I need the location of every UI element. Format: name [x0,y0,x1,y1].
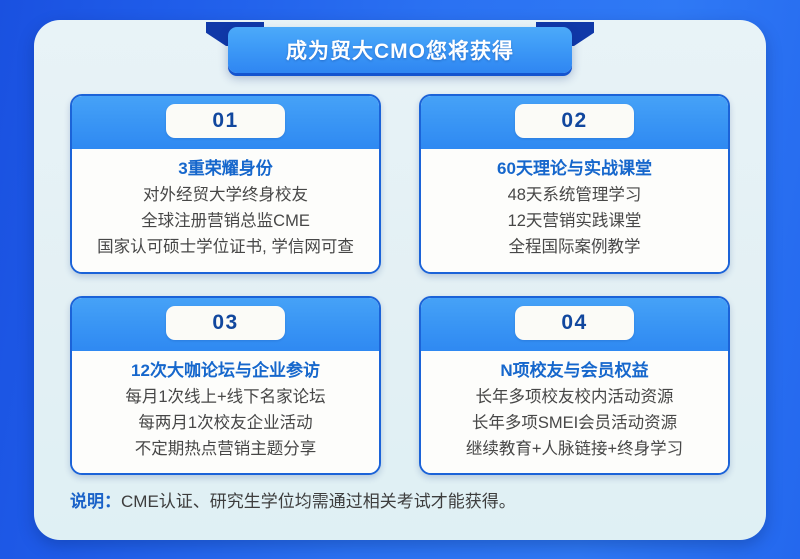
card-line: 每月1次线上+线下名家论坛 [78,384,373,410]
card-line: 长年多项校友校内活动资源 [427,384,722,410]
card-body: 12次大咖论坛与企业参访 每月1次线上+线下名家论坛 每两月1次校友企业活动 不… [72,351,379,474]
card-line: 全程国际案例教学 [427,234,722,260]
footnote-text: CME认证、研究生学位均需通过相关考试才能获得。 [121,492,516,511]
benefit-card: 01 3重荣耀身份 对外经贸大学终身校友 全球注册营销总监CME 国家认可硕士学… [70,94,381,274]
benefit-card: 02 60天理论与实战课堂 48天系统管理学习 12天营销实践课堂 全程国际案例… [419,94,730,274]
card-title: 12次大咖论坛与企业参访 [78,358,373,384]
title-ribbon: 成为贸大CMO您将获得 [0,22,800,74]
card-title: N项校友与会员权益 [427,358,722,384]
card-line: 长年多项SMEI会员活动资源 [427,410,722,436]
card-number: 04 [561,311,587,335]
card-body: N项校友与会员权益 长年多项校友校内活动资源 长年多项SMEI会员活动资源 继续… [421,351,728,474]
promo-graphic: 成为贸大CMO您将获得 01 3重荣耀身份 对外经贸大学终身校友 全球注册营销总… [0,0,800,559]
ribbon-body: 成为贸大CMO您将获得 [228,27,572,73]
card-number: 03 [212,311,238,335]
card-body: 60天理论与实战课堂 48天系统管理学习 12天营销实践课堂 全程国际案例教学 [421,149,728,272]
card-line: 国家认可硕士学位证书, 学信网可查 [78,234,373,260]
card-number-badge: 02 [515,104,634,138]
footnote-label: 说明： [70,492,121,511]
card-line: 全球注册营销总监CME [78,208,373,234]
card-number-badge: 04 [515,306,634,340]
card-line: 不定期热点营销主题分享 [78,436,373,462]
card-header: 04 [421,298,728,351]
card-line: 继续教育+人脉链接+终身学习 [427,436,722,462]
card-line: 48天系统管理学习 [427,182,722,208]
benefit-card: 03 12次大咖论坛与企业参访 每月1次线上+线下名家论坛 每两月1次校友企业活… [70,296,381,476]
benefit-card-grid: 01 3重荣耀身份 对外经贸大学终身校友 全球注册营销总监CME 国家认可硕士学… [70,94,730,475]
card-header: 03 [72,298,379,351]
card-line: 12天营销实践课堂 [427,208,722,234]
card-number-badge: 01 [166,104,285,138]
card-header: 01 [72,96,379,149]
footnote: 说明：CME认证、研究生学位均需通过相关考试才能获得。 [70,490,516,514]
card-line: 对外经贸大学终身校友 [78,182,373,208]
card-header: 02 [421,96,728,149]
card-line: 每两月1次校友企业活动 [78,410,373,436]
card-number-badge: 03 [166,306,285,340]
card-body: 3重荣耀身份 对外经贸大学终身校友 全球注册营销总监CME 国家认可硕士学位证书… [72,149,379,272]
benefit-card: 04 N项校友与会员权益 长年多项校友校内活动资源 长年多项SMEI会员活动资源… [419,296,730,476]
card-title: 60天理论与实战课堂 [427,156,722,182]
card-number: 02 [561,109,587,133]
banner-title: 成为贸大CMO您将获得 [286,35,514,65]
card-number: 01 [212,109,238,133]
card-title: 3重荣耀身份 [78,156,373,182]
